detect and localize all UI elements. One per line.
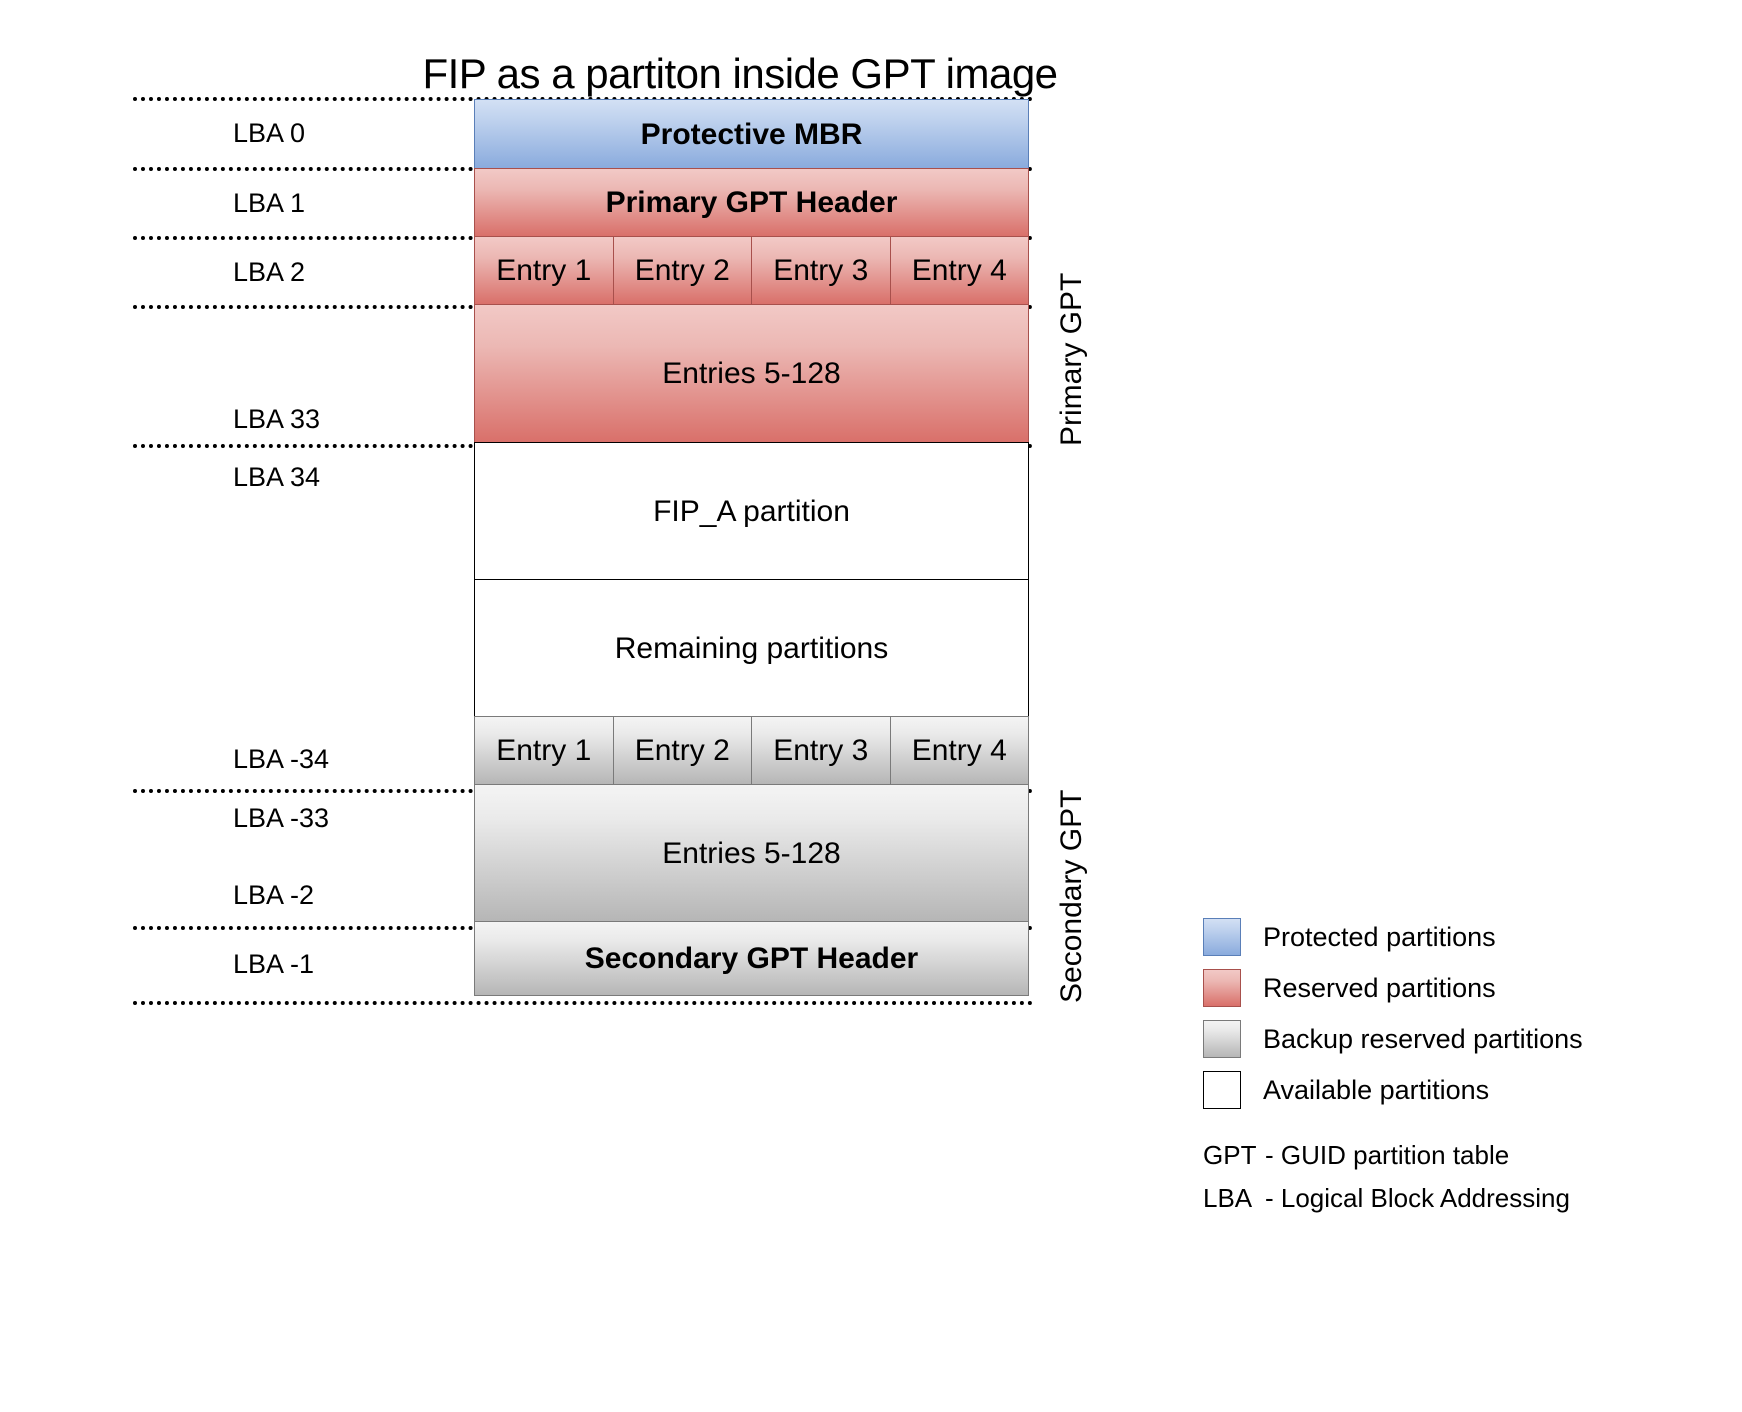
- partition-entry-cell: Entry 3: [751, 716, 891, 785]
- gpt-region-label: Primary GPT: [1055, 196, 1089, 446]
- abbreviation-row: LBA- Logical Block Addressing: [1203, 1183, 1570, 1214]
- gpt-region-label: Secondary GPT: [1055, 718, 1089, 1003]
- abbreviation-key: LBA: [1203, 1183, 1265, 1214]
- legend-swatch-gray: [1203, 1020, 1241, 1058]
- legend-swatch-blue: [1203, 918, 1241, 956]
- lba-label: LBA -1: [233, 951, 314, 978]
- partition-entry-row: Entry 1Entry 2Entry 3Entry 4: [474, 236, 1029, 305]
- lba-label: LBA -34: [233, 746, 329, 773]
- lba-label: LBA 2: [233, 259, 305, 286]
- lba-label: LBA 33: [233, 406, 320, 433]
- legend-row: Available partitions: [1203, 1065, 1583, 1115]
- lba-label: LBA 1: [233, 190, 305, 217]
- abbreviation-key: GPT: [1203, 1140, 1265, 1171]
- legend-label: Reserved partitions: [1263, 973, 1496, 1004]
- legend-swatch-white: [1203, 1071, 1241, 1109]
- lba-label: LBA 34: [233, 464, 320, 491]
- abbreviation-row: GPT- GUID partition table: [1203, 1140, 1570, 1171]
- gpt-band: Primary GPT Header: [474, 168, 1029, 237]
- legend: Protected partitionsReserved partitionsB…: [1203, 912, 1583, 1116]
- gpt-band: Entries 5-128: [474, 304, 1029, 443]
- legend-row: Backup reserved partitions: [1203, 1014, 1583, 1064]
- lba-label: LBA 0: [233, 120, 305, 147]
- partition-entry-cell: Entry 4: [890, 716, 1030, 785]
- legend-label: Backup reserved partitions: [1263, 1024, 1583, 1055]
- abbreviation-definition: - Logical Block Addressing: [1265, 1183, 1570, 1214]
- gpt-band: Entries 5-128: [474, 784, 1029, 922]
- legend-label: Available partitions: [1263, 1075, 1489, 1106]
- legend-swatch-red: [1203, 969, 1241, 1007]
- partition-entry-cell: Entry 2: [613, 716, 753, 785]
- gpt-layout-stack: Protective MBRPrimary GPT HeaderEntry 1E…: [474, 99, 1029, 996]
- partition-entry-cell: Entry 4: [890, 236, 1030, 305]
- partition-entry-cell: Entry 3: [751, 236, 891, 305]
- gpt-band: Remaining partitions: [474, 579, 1029, 717]
- page-title: FIP as a partiton inside GPT image: [0, 50, 1480, 98]
- lba-label: LBA -33: [233, 805, 329, 832]
- legend-row: Reserved partitions: [1203, 963, 1583, 1013]
- partition-entry-cell: Entry 2: [613, 236, 753, 305]
- partition-entry-cell: Entry 1: [474, 236, 614, 305]
- lba-label: LBA -2: [233, 882, 314, 909]
- guide-line: [133, 1001, 1033, 1005]
- partition-entry-row: Entry 1Entry 2Entry 3Entry 4: [474, 716, 1029, 785]
- legend-row: Protected partitions: [1203, 912, 1583, 962]
- gpt-band: Protective MBR: [474, 99, 1029, 169]
- legend-label: Protected partitions: [1263, 922, 1496, 953]
- gpt-band: FIP_A partition: [474, 442, 1029, 580]
- abbreviation-definition: - GUID partition table: [1265, 1140, 1509, 1171]
- gpt-band: Secondary GPT Header: [474, 921, 1029, 996]
- partition-entry-cell: Entry 1: [474, 716, 614, 785]
- abbreviation-list: GPT- GUID partition tableLBA- Logical Bl…: [1203, 1140, 1570, 1226]
